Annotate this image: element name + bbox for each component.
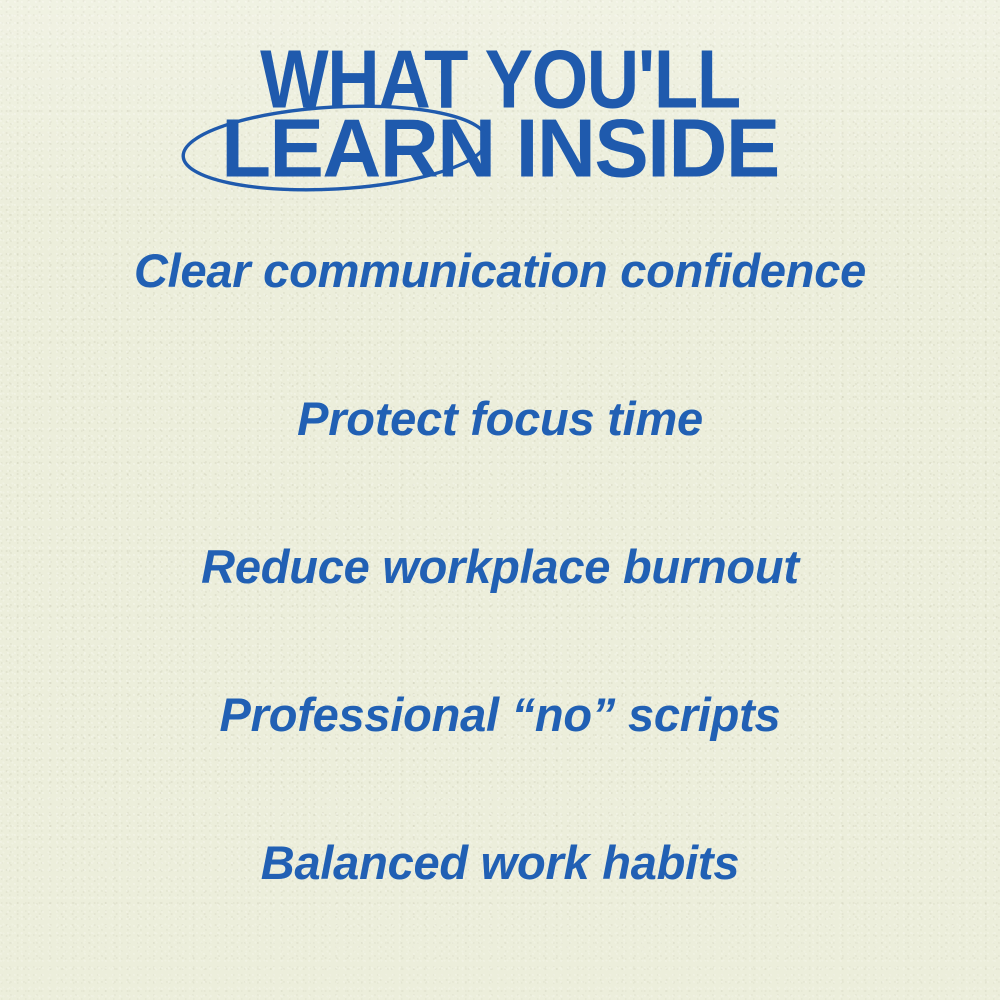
page-title-line-2: LEARN INSIDE [0, 114, 1000, 183]
list-item: Clear communication confidence [0, 246, 1000, 394]
list-item: Balanced work habits [0, 838, 1000, 986]
list-item: Professional “no” scripts [0, 690, 1000, 838]
learning-points-list: Clear communication confidence Protect f… [0, 246, 1000, 986]
list-item: Reduce workplace burnout [0, 542, 1000, 690]
list-item: Protect focus time [0, 394, 1000, 542]
page-title: WHAT YOU'LL LEARN INSIDE [0, 47, 1000, 181]
slide-canvas: WHAT YOU'LL LEARN INSIDE Clear communica… [0, 0, 1000, 1000]
